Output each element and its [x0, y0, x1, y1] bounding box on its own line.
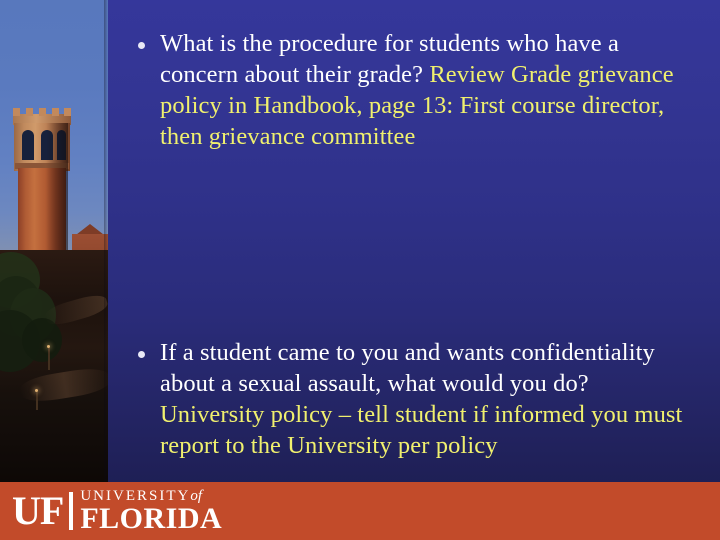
photo-tree: [22, 318, 62, 362]
photo-lamppost: [36, 392, 38, 410]
bullet-item-2-text: If a student came to you and wants confi…: [160, 337, 690, 461]
bullet-item-1: What is the procedure for students who h…: [134, 28, 690, 152]
photo-tower-crenellation: [64, 108, 71, 116]
photo-tower-crenellation: [13, 108, 20, 116]
uf-logo: UF UNIVERSITYof FLORIDA: [12, 487, 222, 535]
uf-florida-word: FLORIDA: [80, 504, 222, 533]
uf-monogram: UF: [12, 491, 63, 531]
bullet-dot-icon: [138, 351, 145, 358]
photo-tower-crenellation: [26, 108, 33, 116]
bullet-item-2: If a student came to you and wants confi…: [134, 337, 690, 461]
photo-edge-shading: [104, 0, 108, 482]
photo-tower-crenellation: [39, 108, 46, 116]
photo-lamp-light: [35, 389, 38, 392]
photo-lamp-light: [47, 345, 50, 348]
uf-century-tower-photo: [0, 0, 108, 482]
bullet-2-answer-text: University policy – tell student if info…: [160, 401, 682, 459]
bullet-dot-icon: [138, 42, 145, 49]
bullet-2-answer: University policy – tell student if info…: [160, 401, 682, 459]
uf-logo-divider: [69, 492, 73, 530]
uf-logo-wordmark: UNIVERSITYof FLORIDA: [80, 489, 222, 533]
photo-lamppost: [48, 348, 50, 370]
bullet-2-question: If a student came to you and wants confi…: [160, 339, 655, 397]
photo-tower-crenellation: [52, 108, 59, 116]
photo-tower-louver: [22, 130, 34, 160]
bullet-item-1-text: What is the procedure for students who h…: [160, 28, 690, 152]
slide-canvas: What is the procedure for students who h…: [0, 0, 720, 540]
slide-body: What is the procedure for students who h…: [134, 28, 690, 461]
